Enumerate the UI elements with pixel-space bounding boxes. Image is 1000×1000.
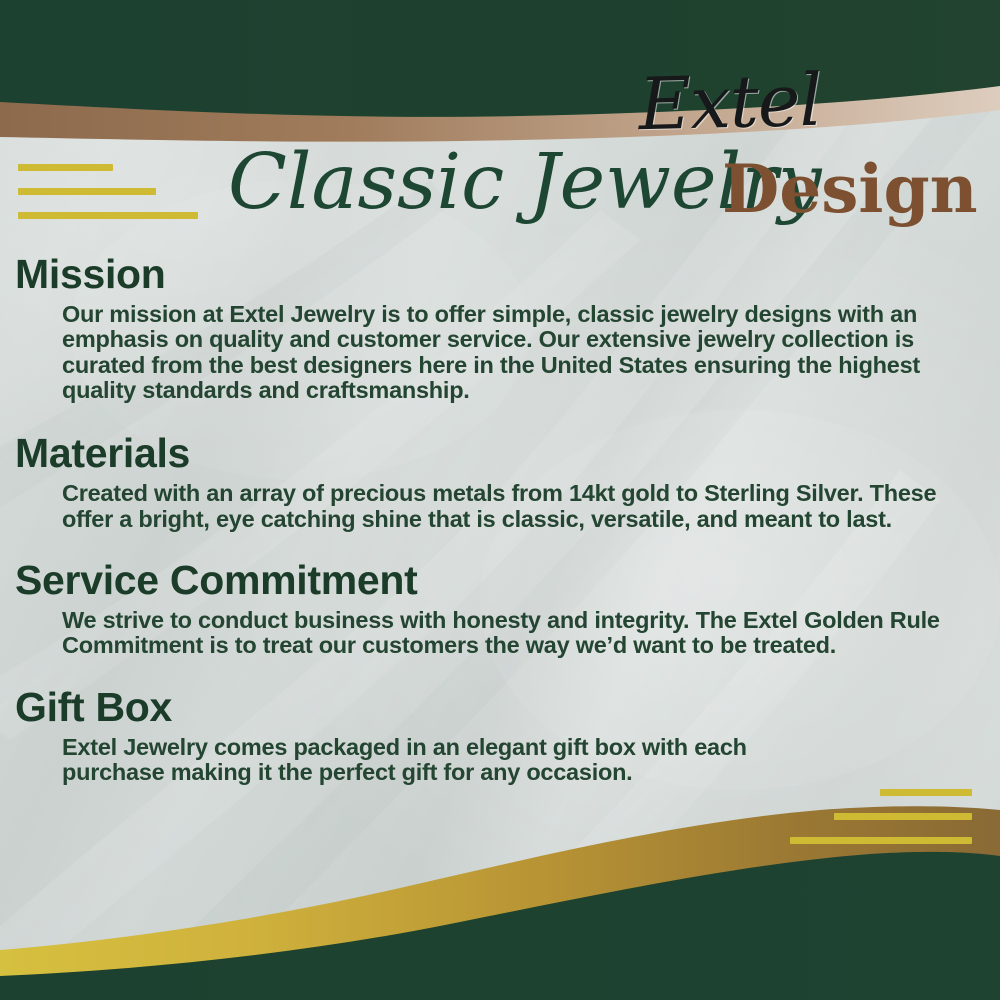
poster-canvas: Extel Classic Jewelry Design Mission Our… [0,0,1000,1000]
content-sections: Mission Our mission at Extel Jewelry is … [0,252,1000,793]
title-design: Design [722,156,978,222]
section-mission: Mission Our mission at Extel Jewelry is … [0,252,1000,403]
section-heading-mission: Mission [15,252,1000,298]
section-heading-service-commitment: Service Commitment [15,558,1000,604]
section-body-gift-box: Extel Jewelry comes packaged in an elega… [62,735,750,786]
section-heading-gift-box: Gift Box [15,685,1000,731]
page-title: Classic Jewelry Design [0,152,1000,262]
section-gift-box: Gift Box Extel Jewelry comes packaged in… [0,685,1000,786]
section-materials: Materials Created with an array of preci… [0,431,1000,532]
section-body-service-commitment: We strive to conduct business with hones… [62,608,966,659]
accent-line [834,813,972,820]
brand-logo-extel: Extel [599,63,861,141]
section-body-mission: Our mission at Extel Jewelry is to offer… [62,302,966,404]
accent-lines-bottom-right [790,789,972,861]
section-heading-materials: Materials [15,431,1000,477]
accent-line [790,837,972,844]
section-service-commitment: Service Commitment We strive to conduct … [0,558,1000,659]
section-body-materials: Created with an array of precious metals… [62,481,966,532]
